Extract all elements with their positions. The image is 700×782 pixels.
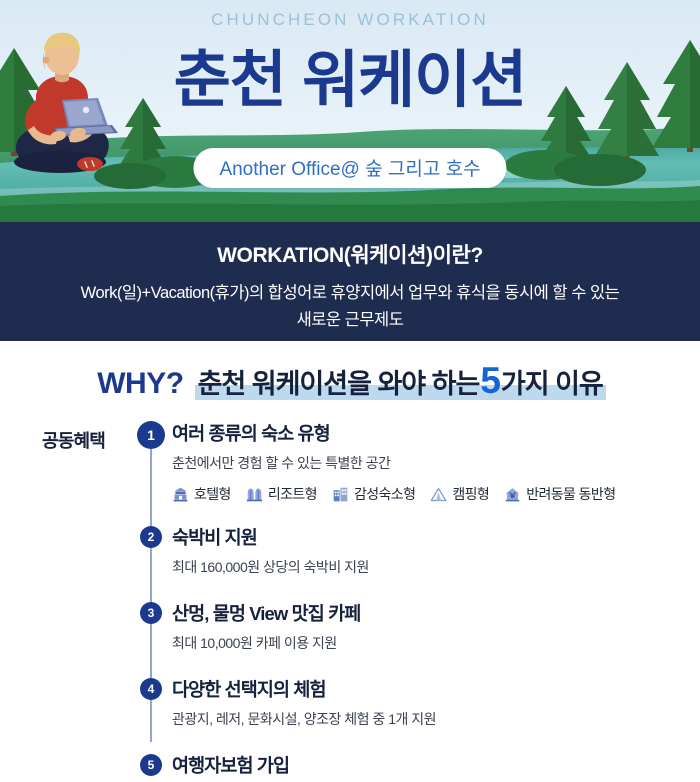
- benefit-title-5: 여행자보험 가입: [172, 753, 700, 778]
- tagline-badge: Another Office@ 숲 그리고 호수: [193, 148, 506, 188]
- benefit-item-4[interactable]: 4 다양한 선택지의 체험 관광지, 레저, 문화시설, 양조장 체험 중 1개…: [0, 677, 700, 729]
- benefit-item-1[interactable]: 1 여러 종류의 숙소 유형 춘천에서만 경험 할 수 있는 특별한 공간 호텔…: [0, 421, 700, 504]
- why-count: 5: [479, 362, 501, 399]
- hero-kicker: CHUNCHEON WORKATION: [0, 10, 700, 30]
- benefit-item-2[interactable]: 2 숙박비 지원 최대 160,000원 상당의 숙박비 지원: [0, 525, 700, 577]
- lodging-label-resort: 리조트형: [268, 484, 317, 504]
- definition-title: WORKATION(워케이션)이란?: [0, 239, 700, 269]
- benefit-title-4: 다양한 선택지의 체험: [172, 677, 700, 702]
- benefits-list: 공동혜택 1 여러 종류의 숙소 유형 춘천에서만 경험 할 수 있는 특별한 …: [0, 421, 700, 782]
- camping-tent-icon: [430, 486, 447, 503]
- benefit-title-3: 산멍, 물멍 View 맛집 카페: [172, 601, 700, 626]
- definition-line-2: 새로운 근무제도: [22, 307, 678, 334]
- definition-line-1: Work(일)+Vacation(휴가)의 합성어로 휴양지에서 업무와 휴식을…: [22, 280, 678, 307]
- lodging-chip-hotel: 호텔형: [172, 484, 231, 504]
- hotel-icon: [172, 486, 189, 503]
- benefit-number-3: 3: [140, 602, 162, 624]
- lodging-label-hotel: 호텔형: [194, 484, 231, 504]
- lodging-label-boutique: 감성숙소형: [354, 484, 415, 504]
- pet-friendly-icon: [504, 486, 521, 503]
- why-prefix: WHY?: [97, 367, 183, 401]
- lodging-chip-boutique: 감성숙소형: [332, 484, 415, 504]
- benefit-item-3[interactable]: 3 산멍, 물멍 View 맛집 카페 최대 10,000원 카페 이용 지원: [0, 601, 700, 653]
- benefit-desc-3: 최대 10,000원 카페 이용 지원: [172, 633, 700, 653]
- workation-poster: CHUNCHEON WORKATION 춘천 워케이션 Another Offi…: [0, 0, 700, 782]
- lodging-label-camping: 캠핑형: [452, 484, 489, 504]
- benefit-desc-1: 춘천에서만 경험 할 수 있는 특별한 공간: [172, 453, 700, 473]
- benefit-number-5: 5: [140, 754, 162, 776]
- benefit-desc-2: 최대 160,000원 상당의 숙박비 지원: [172, 557, 700, 577]
- lodging-label-pet: 반려동물 동반형: [526, 484, 615, 504]
- benefit-item-5[interactable]: 5 여행자보험 가입 안전한 여행을 위한 여행자보험가입 제공: [0, 753, 700, 782]
- lodging-type-icons: 호텔형 리조트형: [172, 484, 700, 504]
- benefit-number-1: 1: [137, 421, 165, 449]
- why-section-heading: WHY? 춘천 워케이션을 와야 하는 5 가지 이유: [0, 341, 700, 421]
- hero-banner: CHUNCHEON WORKATION 춘천 워케이션 Another Offi…: [0, 0, 700, 222]
- benefit-title-2: 숙박비 지원: [172, 525, 700, 550]
- benefit-title-1: 여러 종류의 숙소 유형: [172, 421, 700, 446]
- definition-band: WORKATION(워케이션)이란? Work(일)+Vacation(휴가)의…: [0, 222, 700, 341]
- resort-icon: [246, 486, 263, 503]
- lodging-chip-camping: 캠핑형: [430, 484, 489, 504]
- why-headline: 춘천 워케이션을 와야 하는 5 가지 이유: [198, 362, 603, 401]
- page-title: 춘천 워케이션: [0, 45, 700, 117]
- benefit-number-4: 4: [140, 678, 162, 700]
- why-text-after: 가지 이유: [501, 362, 603, 401]
- benefit-number-2: 2: [140, 526, 162, 548]
- boutique-stay-icon: [332, 486, 349, 503]
- why-text-before: 춘천 워케이션을 와야 하는: [198, 362, 480, 401]
- benefit-desc-4: 관광지, 레저, 문화시설, 양조장 체험 중 1개 지원: [172, 709, 700, 729]
- lodging-chip-resort: 리조트형: [246, 484, 317, 504]
- lodging-chip-pet: 반려동물 동반형: [504, 484, 615, 504]
